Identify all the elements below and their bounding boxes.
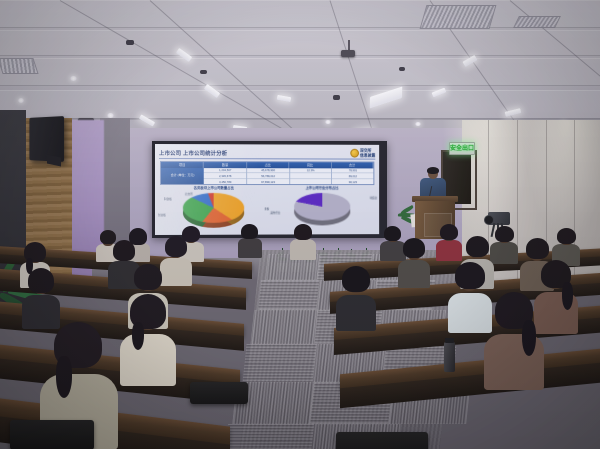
audience-chair[interactable] bbox=[10, 420, 94, 449]
slide-data-table: 项目 数量 占比 同比 合计 合计 (单位：万元) 1,234,567 2,34… bbox=[160, 161, 374, 185]
table-column: 45,678,900 56,789,012 67,890,123 bbox=[247, 168, 290, 184]
audience-person bbox=[490, 226, 518, 260]
table-cell: 3,456,789 bbox=[204, 179, 246, 184]
projection-screen: 上市公司 上市公司统计分析 深交所 信息披露 项目 数量 占比 同比 合计 bbox=[155, 144, 379, 235]
audience-area bbox=[0, 232, 600, 449]
audience-chair[interactable] bbox=[336, 432, 428, 449]
chart-left-caption: 各类板块上市公司数量占比 bbox=[159, 185, 268, 190]
audience-chair[interactable] bbox=[190, 382, 248, 404]
slide-title: 上市公司 上市公司统计分析 bbox=[159, 149, 227, 157]
track-light bbox=[399, 67, 405, 71]
pie-left-label: 北交所 bbox=[185, 192, 193, 196]
hvac-vent bbox=[0, 58, 39, 74]
hvac-vent bbox=[513, 16, 561, 28]
pie-left-label: 科创板 bbox=[164, 197, 172, 201]
audience-person bbox=[336, 266, 376, 322]
pie-right-label: 其他行业 bbox=[270, 211, 280, 215]
table-column: 1,234,567 2,345,678 3,456,789 bbox=[204, 168, 247, 184]
chart-right-caption: 上市公司行业分布占比 bbox=[268, 185, 375, 190]
ceiling-spotlight bbox=[70, 76, 77, 81]
ceiling-spotlight bbox=[415, 122, 421, 126]
slide-chart-area: 各类板块上市公司数量占比 主板 创业板 科创板 北交所 其他 上市公司行业分布占… bbox=[159, 185, 375, 232]
bottle-cap bbox=[445, 338, 454, 343]
slide-title-divider bbox=[159, 158, 375, 160]
logo-text-line2: 信息披露 bbox=[360, 153, 375, 157]
ceiling-spotlight bbox=[325, 120, 331, 124]
track-light bbox=[333, 95, 340, 100]
pie-chart-right bbox=[294, 193, 350, 225]
pie-chart-left bbox=[183, 193, 244, 227]
hvac-vent bbox=[420, 5, 497, 29]
table-column: 78,901 89,012 90,123 bbox=[332, 168, 373, 184]
table-cell bbox=[290, 179, 331, 184]
ceiling-spotlight bbox=[18, 98, 24, 103]
audience-person bbox=[552, 228, 580, 262]
audience-person bbox=[436, 224, 462, 258]
exit-sign-label: 安全出口 bbox=[450, 146, 474, 152]
track-light bbox=[200, 70, 207, 74]
audience-person bbox=[290, 224, 316, 258]
audience-person bbox=[484, 292, 544, 378]
slide-logo: 深交所 信息披露 bbox=[350, 149, 375, 158]
audience-person bbox=[22, 268, 60, 320]
chart-right-container: 上市公司行业分布占比 其他行业 制造业 bbox=[268, 185, 375, 232]
ceiling-projector bbox=[341, 50, 355, 57]
table-column: 12.3% bbox=[290, 168, 332, 184]
conference-room-photo: 安全出口 上市公司 上市公司统计分析 深交所 信息披露 bbox=[0, 0, 600, 449]
audience-person bbox=[238, 224, 262, 256]
table-body: 合计 (单位：万元) 1,234,567 2,345,678 3,456,789… bbox=[161, 168, 373, 185]
water-bottle bbox=[444, 342, 455, 372]
table-cell: 67,890,123 bbox=[247, 179, 289, 184]
pie-right-label: 制造业 bbox=[370, 196, 377, 200]
audience-person bbox=[120, 294, 176, 374]
projection-screen-frame: 上市公司 上市公司统计分析 深交所 信息披露 项目 数量 占比 同比 合计 bbox=[152, 141, 387, 238]
track-light bbox=[126, 40, 134, 45]
pie-left-label: 创业板 bbox=[158, 213, 166, 217]
table-cell: 90,123 bbox=[332, 179, 373, 184]
presenter-hair bbox=[427, 167, 439, 174]
exit-sign: 安全出口 bbox=[449, 142, 475, 155]
table-row-label: 合计 (单位：万元) bbox=[161, 168, 204, 185]
audience-person bbox=[398, 238, 430, 282]
logo-emblem-icon bbox=[350, 149, 359, 158]
